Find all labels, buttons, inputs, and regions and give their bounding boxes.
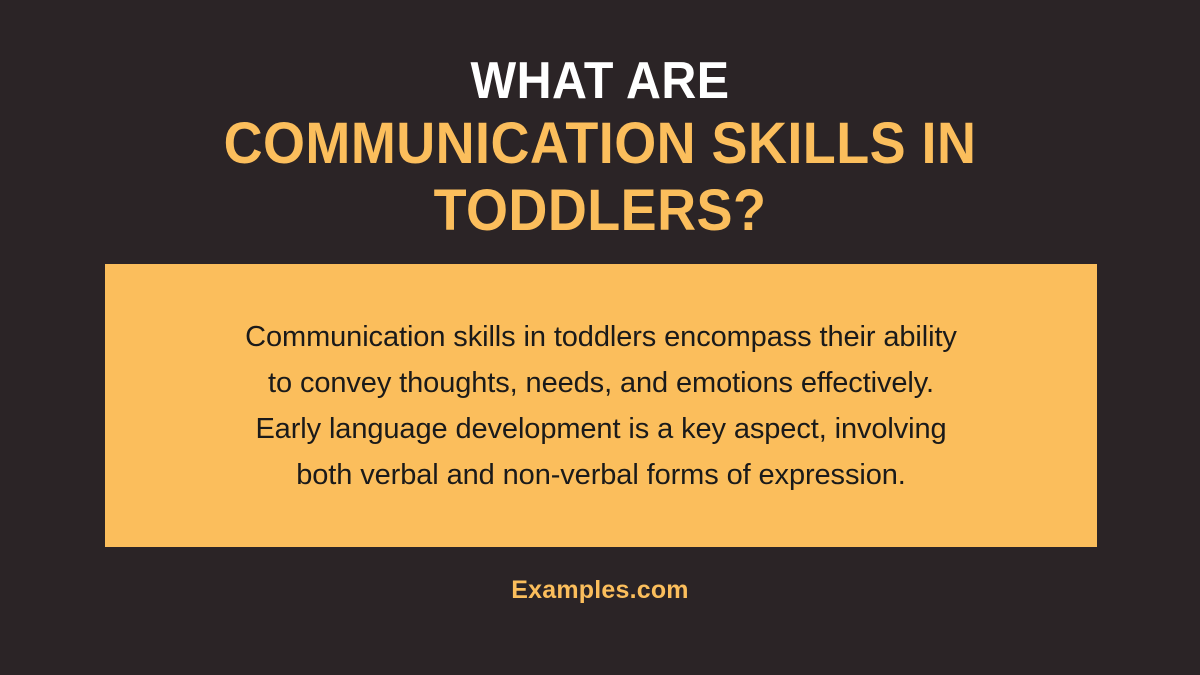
body-panel: Communication skills in toddlers encompa…: [105, 264, 1097, 547]
brand-label: Examples.com: [511, 576, 689, 604]
body-line-4: both verbal and non-verbal forms of expr…: [245, 452, 957, 498]
infographic-slide: WHAT ARE COMMUNICATION SKILLS IN TODDLER…: [0, 0, 1200, 675]
body-line-3: Early language development is a key aspe…: [245, 406, 957, 452]
body-line-2: to convey thoughts, needs, and emotions …: [245, 360, 957, 406]
title-line-3: TODDLERS?: [42, 179, 1158, 244]
footer: Examples.com: [0, 576, 1200, 605]
title-line-2: COMMUNICATION SKILLS IN: [42, 112, 1158, 177]
body-paragraph: Communication skills in toddlers encompa…: [245, 314, 957, 498]
body-line-1: Communication skills in toddlers encompa…: [245, 314, 957, 360]
page-title: WHAT ARE COMMUNICATION SKILLS IN TODDLER…: [0, 52, 1200, 244]
title-line-1: WHAT ARE: [42, 52, 1158, 110]
